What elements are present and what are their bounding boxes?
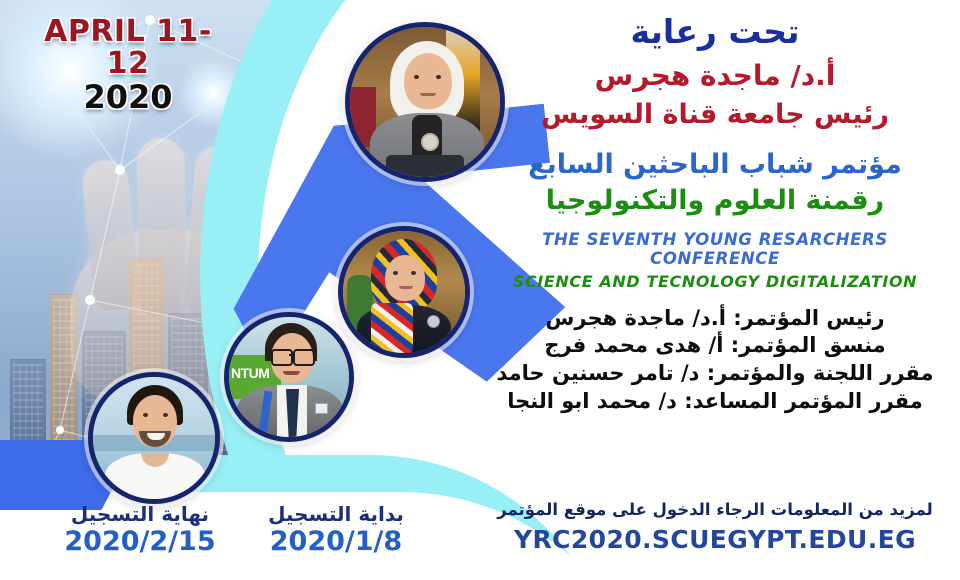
- portrait-assistant: [88, 372, 220, 504]
- background-banner-text: NTUM: [231, 365, 269, 381]
- portrait-rapporteur: NTUM: [224, 312, 354, 442]
- registration-end-date: 2020/2/15: [40, 527, 240, 557]
- conference-poster: NTUM APRIL 11-12 2020 تحت رعاية أ.د/ ماج…: [0, 0, 960, 580]
- conference-title-arabic: مؤتمر شباب الباحثين السابع: [480, 149, 950, 181]
- patronage-label: تحت رعاية: [480, 14, 950, 51]
- committee-item-rapporteur: مقرر اللجنة والمؤتمر: د/ تامر حسنين حامد: [480, 360, 950, 388]
- registration-start-date: 2020/1/8: [236, 527, 436, 557]
- more-info-block: لمزيد من المعلومات الرجاء الدخول على موق…: [480, 500, 950, 554]
- event-date-badge: APRIL 11-12 2020: [28, 16, 228, 115]
- event-year: 2020: [28, 81, 228, 115]
- conference-theme-english: SCIENCE AND TECNOLOGY DIGITALIZATION: [480, 272, 950, 291]
- portrait-coordinator: [338, 226, 470, 358]
- committee-item-coordinator: منسق المؤتمر: أ/ هدى محمد فرج: [480, 332, 950, 360]
- event-date-range: APRIL 11-12: [28, 16, 228, 79]
- conference-website-url[interactable]: YRC2020.SCUEGYPT.EDU.EG: [480, 525, 950, 554]
- more-info-text: لمزيد من المعلومات الرجاء الدخول على موق…: [480, 500, 950, 519]
- poster-text-column: تحت رعاية أ.د/ ماجدة هجرس رئيس جامعة قنا…: [480, 8, 950, 416]
- committee-item-chair: رئيس المؤتمر: أ.د/ ماجدة هجرس: [480, 305, 950, 333]
- conference-theme-arabic: رقمنة العلوم والتكنولوجيا: [480, 185, 950, 217]
- committee-item-assistant: مقرر المؤتمر المساعد: د/ محمد ابو النجا: [480, 388, 950, 416]
- conference-title-english: THE SEVENTH YOUNG RESARCHERS CONFERENCE: [480, 230, 950, 268]
- registration-end-block: نهاية التسجيل 2020/2/15: [40, 503, 240, 557]
- registration-end-label: نهاية التسجيل: [40, 503, 240, 525]
- patron-role: رئيس جامعة قناة السويس: [480, 99, 950, 131]
- committee-list: رئيس المؤتمر: أ.د/ ماجدة هجرس منسق المؤت…: [480, 305, 950, 416]
- registration-start-label: بداية التسجيل: [236, 503, 436, 525]
- patron-name: أ.د/ ماجدة هجرس: [480, 59, 950, 93]
- registration-start-block: بداية التسجيل 2020/1/8: [236, 503, 436, 557]
